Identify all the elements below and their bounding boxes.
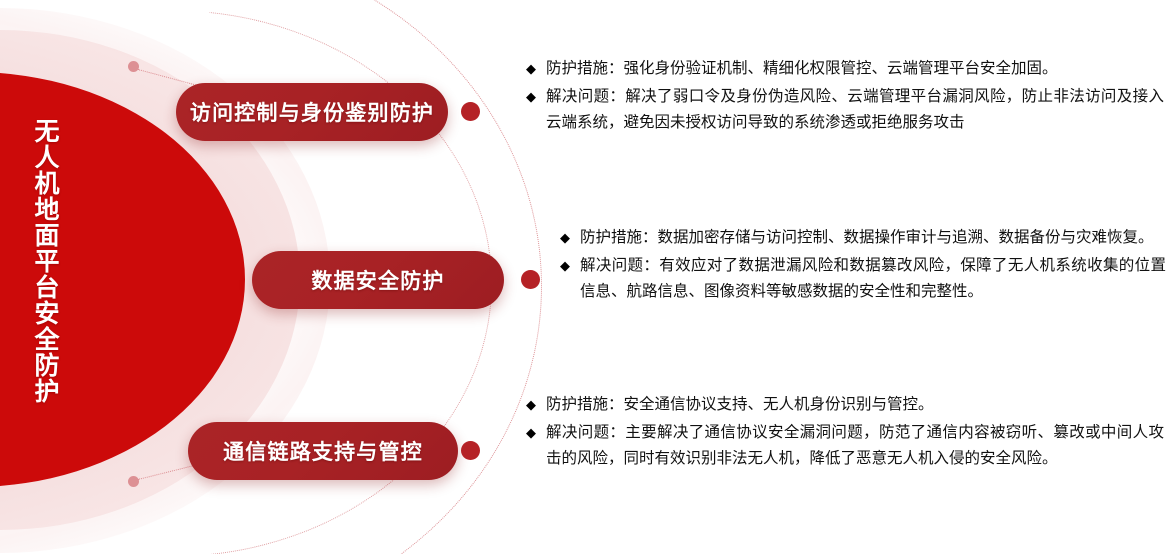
branch-pill-data-security[interactable]: 数据安全防护 [252,251,504,309]
diamond-bullet-icon: ◆ [526,84,536,110]
leader-dot-top [128,61,139,72]
connector-knob-1 [461,102,480,121]
bullet-text: 解决问题：主要解决了通信协议安全漏洞问题，防范了通信内容被窃听、篡改或中间人攻击… [546,420,1164,472]
branch-detail-block-data-security: ◆ 防护措施：数据加密存储与访问控制、数据操作审计与追溯、数据备份与灾难恢复。 … [560,225,1166,307]
bullet-item: ◆ 防护措施：强化身份验证机制、精细化权限管控、云端管理平台安全加固。 [526,56,1164,82]
branch-pill-comm-link[interactable]: 通信链路支持与管控 [188,422,458,480]
connector-knob-3 [461,441,480,460]
diamond-bullet-icon: ◆ [560,225,570,251]
bullet-text: 防护措施：强化身份验证机制、精细化权限管控、云端管理平台安全加固。 [546,56,1164,82]
diamond-bullet-icon: ◆ [526,392,536,418]
bullet-item: ◆ 防护措施：安全通信协议支持、无人机身份识别与管控。 [526,392,1164,418]
connector-knob-2 [521,270,540,289]
diamond-bullet-icon: ◆ [560,253,570,279]
bullet-text: 解决问题：解决了弱口令及身份伪造风险、云端管理平台漏洞风险，防止非法访问及接入云… [546,84,1164,136]
bullet-text: 防护措施：数据加密存储与访问控制、数据操作审计与追溯、数据备份与灾难恢复。 [580,225,1166,251]
bullet-text: 防护措施：安全通信协议支持、无人机身份识别与管控。 [546,392,1164,418]
infographic-canvas: 无人机地面平台安全防护 访问控制与身份鉴别防护 数据安全防护 通信链路支持与管控… [0,0,1166,554]
leader-dot-bottom [128,476,139,487]
bullet-item: ◆ 解决问题：主要解决了通信协议安全漏洞问题，防范了通信内容被窃听、篡改或中间人… [526,420,1164,472]
diamond-bullet-icon: ◆ [526,56,536,82]
branch-detail-block-comm-link: ◆ 防护措施：安全通信协议支持、无人机身份识别与管控。 ◆ 解决问题：主要解决了… [526,392,1164,474]
diamond-bullet-icon: ◆ [526,420,536,446]
bullet-item: ◆ 解决问题：解决了弱口令及身份伪造风险、云端管理平台漏洞风险，防止非法访问及接… [526,84,1164,136]
bullet-item: ◆ 防护措施：数据加密存储与访问控制、数据操作审计与追溯、数据备份与灾难恢复。 [560,225,1166,251]
bullet-item: ◆ 解决问题：有效应对了数据泄漏风险和数据篡改风险，保障了无人机系统收集的位置信… [560,253,1166,305]
bullet-text: 解决问题：有效应对了数据泄漏风险和数据篡改风险，保障了无人机系统收集的位置信息、… [580,253,1166,305]
branch-detail-block-access-control: ◆ 防护措施：强化身份验证机制、精细化权限管控、云端管理平台安全加固。 ◆ 解决… [526,56,1164,138]
page-title-vertical: 无人机地面平台安全防护 [18,118,62,404]
branch-pill-access-control[interactable]: 访问控制与身份鉴别防护 [176,83,448,141]
